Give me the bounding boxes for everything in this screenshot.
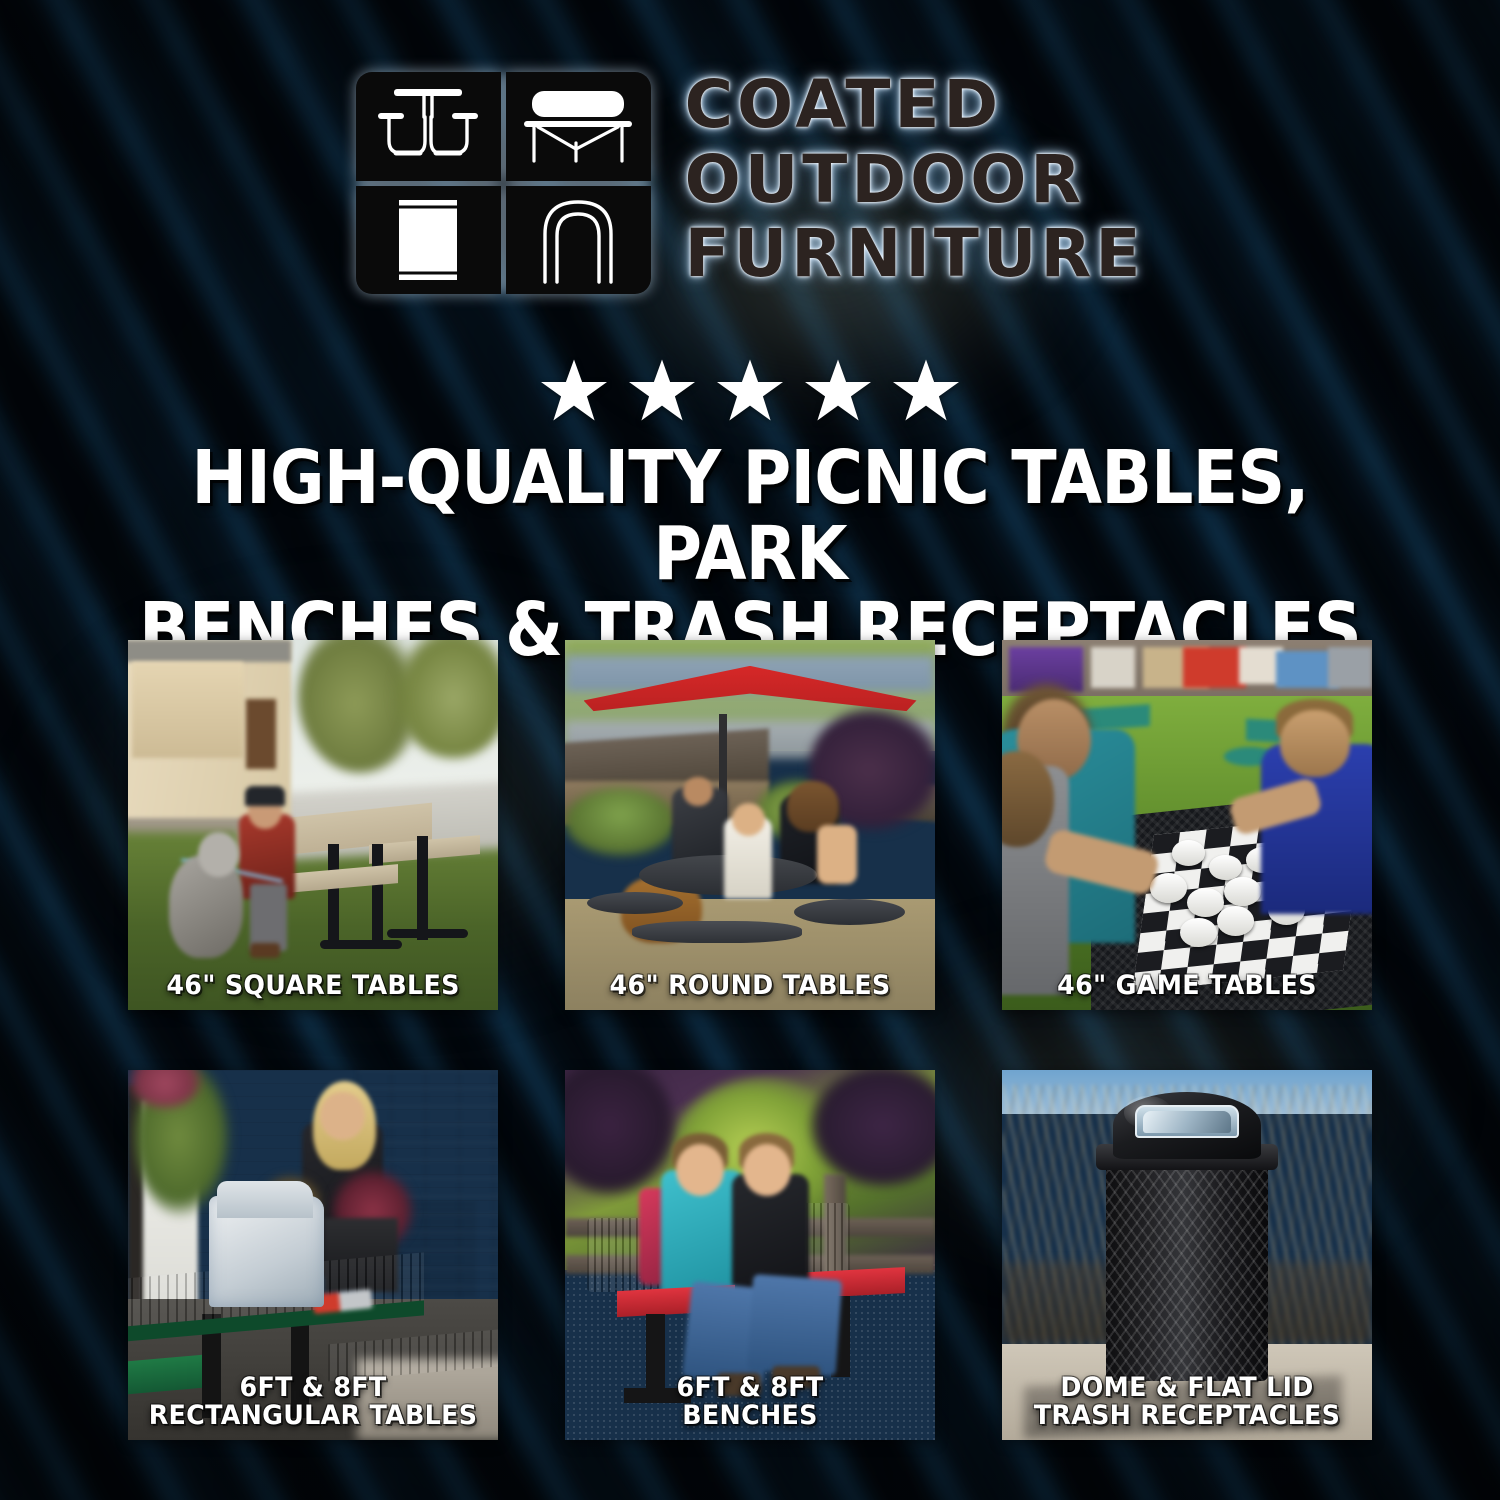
- product-photo-game-tables: [1002, 640, 1372, 1010]
- product-label: 46" GAME TABLES: [1019, 972, 1356, 1000]
- headline-line-1: HIGH-QUALITY PICNIC TABLES, PARK: [129, 440, 1371, 592]
- product-label-line-1: 6FT & 8FT: [582, 1374, 919, 1402]
- star-icon: [539, 357, 609, 428]
- park-bench-icon: [506, 72, 651, 181]
- product-label-line-1: DOME & FLAT LID: [1019, 1374, 1356, 1402]
- star-icon: [715, 357, 785, 428]
- product-label-line-2: TRASH RECEPTACLES: [1019, 1402, 1356, 1430]
- brand-line-3: FURNITURE: [685, 223, 1145, 286]
- logo-icon-grid: [356, 72, 651, 294]
- bike-rack-arch-icon: [506, 186, 651, 295]
- product-label-line-1: 6FT & 8FT: [145, 1374, 482, 1402]
- brand-line-2: OUTDOOR: [685, 149, 1086, 212]
- product-label-line-1: 46" ROUND TABLES: [582, 972, 919, 1000]
- product-photo-square-tables: [128, 640, 498, 1010]
- product-label: 46" SQUARE TABLES: [145, 972, 482, 1000]
- brand-logo: COATED OUTDOOR FURNITURE: [0, 72, 1500, 294]
- star-icon: [891, 357, 961, 428]
- picnic-table-icon: [356, 72, 501, 181]
- product-label: 46" ROUND TABLES: [582, 972, 919, 1000]
- product-tile-square-tables[interactable]: 46" SQUARE TABLES: [128, 640, 498, 1010]
- star-icon: [803, 357, 873, 428]
- product-label-line-1: 46" GAME TABLES: [1019, 972, 1356, 1000]
- page-title: HIGH-QUALITY PICNIC TABLES, PARK BENCHES…: [129, 440, 1371, 669]
- product-label-line-2: RECTANGULAR TABLES: [145, 1402, 482, 1430]
- brand-line-1: COATED: [685, 74, 1003, 137]
- product-tile-trash-receptacles[interactable]: DOME & FLAT LID TRASH RECEPTACLES: [1002, 1070, 1372, 1440]
- product-grid: 46" SQUARE TABLES: [128, 640, 1372, 1440]
- product-label-line-2: BENCHES: [582, 1402, 919, 1430]
- product-label-line-1: 46" SQUARE TABLES: [145, 972, 482, 1000]
- product-tile-rectangular-tables[interactable]: 6FT & 8FT RECTANGULAR TABLES: [128, 1070, 498, 1440]
- star-icon: [627, 357, 697, 428]
- trash-receptacle-icon: [356, 186, 501, 295]
- rating-stars: [0, 357, 1500, 428]
- product-label: 6FT & 8FT RECTANGULAR TABLES: [145, 1374, 482, 1430]
- product-tile-round-tables[interactable]: 46" ROUND TABLES: [565, 640, 935, 1010]
- product-label: DOME & FLAT LID TRASH RECEPTACLES: [1019, 1374, 1356, 1430]
- brand-wordmark: COATED OUTDOOR FURNITURE: [685, 72, 1145, 286]
- product-photo-round-tables: [565, 640, 935, 1010]
- product-tile-game-tables[interactable]: 46" GAME TABLES: [1002, 640, 1372, 1010]
- product-label: 6FT & 8FT BENCHES: [582, 1374, 919, 1430]
- product-tile-benches[interactable]: 6FT & 8FT BENCHES: [565, 1070, 935, 1440]
